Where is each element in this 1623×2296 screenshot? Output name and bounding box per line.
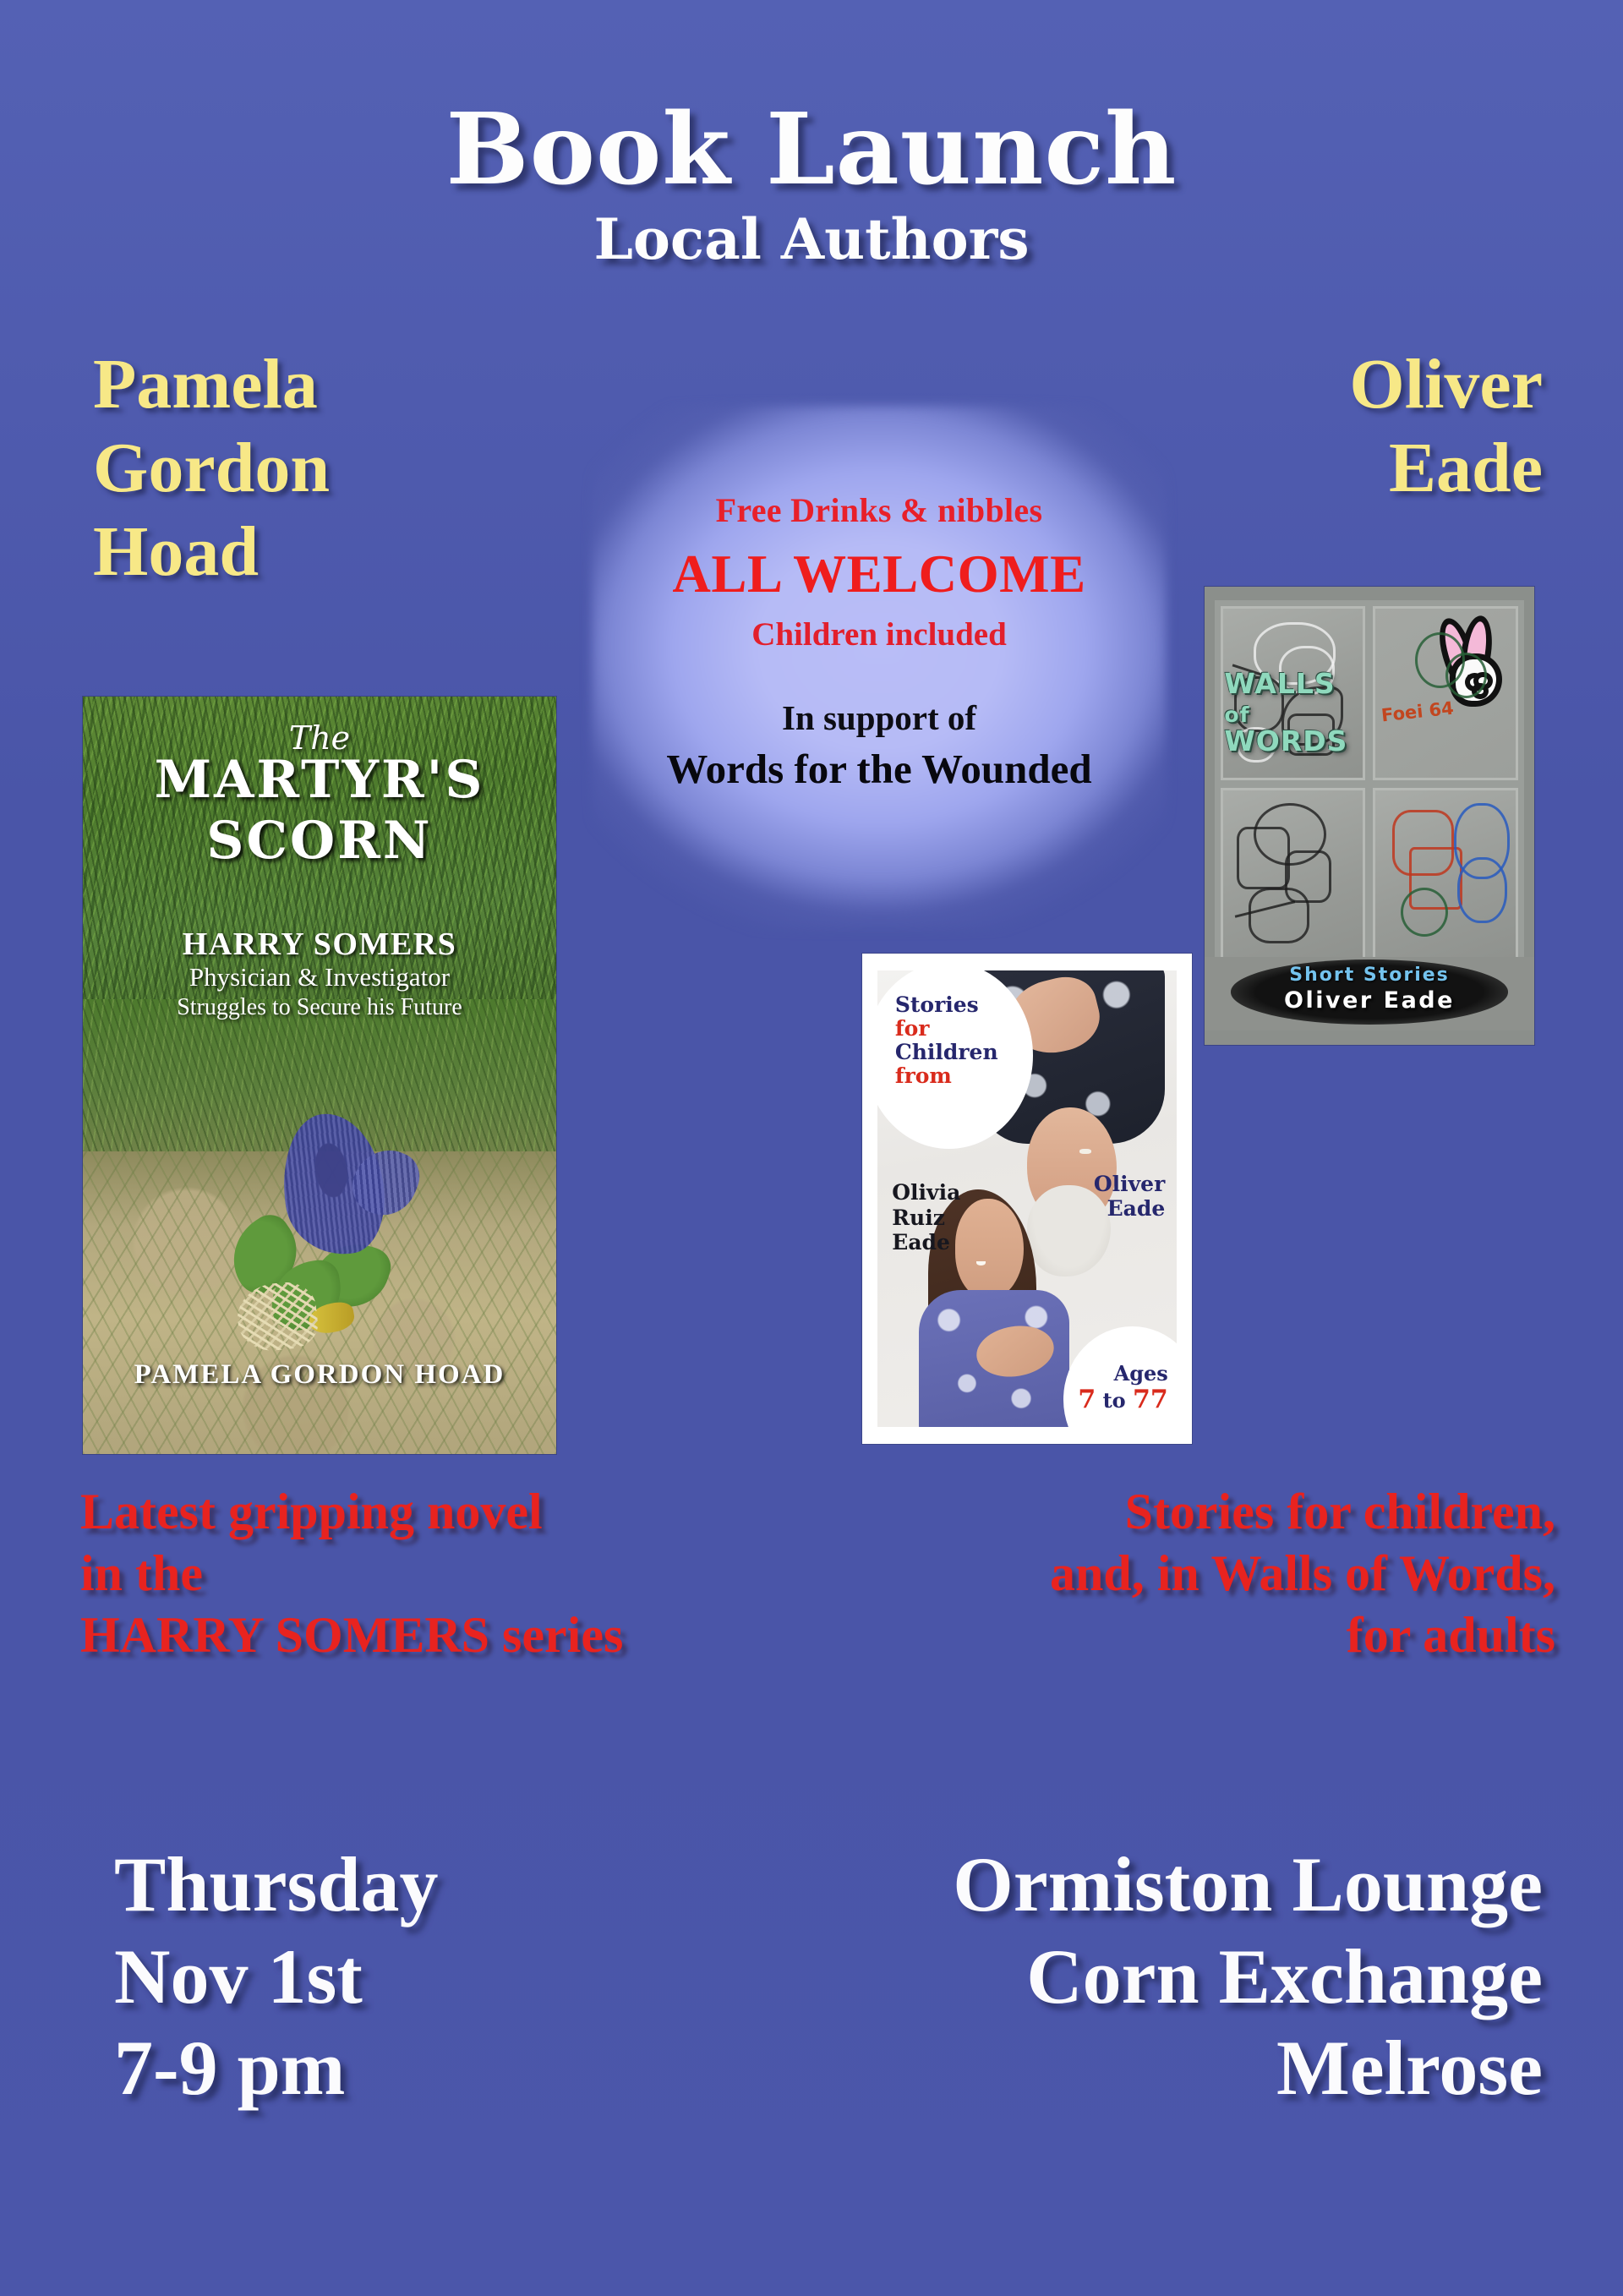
book-cover-walls-of-words: Foei 64 WALLS of WORDS S [1205, 587, 1534, 1045]
event-time: 7-9 pm [114, 2022, 672, 2114]
tagline-right-line-1: Stories for children, [845, 1481, 1555, 1543]
tagline-left: Latest gripping novel in the HARRY SOMER… [80, 1481, 773, 1667]
graffiti-panel-bottom-right [1373, 788, 1518, 961]
cover-martyrs-role: Physician & Investigator [83, 962, 556, 992]
page-title: Book Launch [0, 100, 1623, 200]
event-datetime-block: Thursday Nov 1st 7-9 pm [114, 1839, 672, 2114]
cover-martyrs-title: MARTYR'SSCORN [83, 750, 556, 872]
in-support-of-label: In support of [592, 697, 1167, 738]
author-name-right: OliverEade [1154, 342, 1543, 510]
graffiti-panel-grid: Foei 64 [1215, 600, 1525, 967]
all-welcome-text: ALL WELCOME [592, 544, 1167, 605]
cover-walls-title: WALLS of WORDS [1224, 670, 1396, 757]
charity-name: Words for the Wounded [592, 745, 1167, 793]
cover-martyrs-byline: PAMELA GORDON HOAD [83, 1359, 556, 1391]
book-cover-martyrs-scorn: The MARTYR'SSCORN HARRY SOMERS Physician… [83, 697, 556, 1454]
tagline-left-line-3: HARRY SOMERS series [80, 1604, 773, 1666]
cover-children-photo: Stories for Children from OliviaRuizEade… [877, 970, 1178, 1426]
cover-walls-author: Oliver Eade [1205, 987, 1534, 1014]
venue-building: Corn Exchange [697, 1931, 1543, 2023]
tagline-right-line-3: for adults [845, 1604, 1555, 1666]
book-cover-stories-for-children: Stories for Children from OliviaRuizEade… [862, 954, 1192, 1444]
cover-martyrs-tagline: Struggles to Secure his Future [83, 994, 556, 1021]
cover-martyrs-character: HARRY SOMERS [83, 926, 556, 963]
flower-bouquet-illustration [225, 1113, 433, 1371]
venue-room: Ormiston Lounge [697, 1839, 1543, 1931]
children-included-text: Children included [592, 615, 1167, 653]
tagline-right: Stories for children, and, in Walls of W… [845, 1481, 1555, 1667]
graffiti-panel-bottom-left [1221, 788, 1366, 961]
girl-face [955, 1199, 1025, 1299]
poster-canvas: Book Launch Local Authors PamelaGordonHo… [0, 0, 1623, 2296]
cover-walls-footer: Short Stories Oliver Eade [1205, 957, 1534, 1030]
event-notice-block: Free Drinks & nibbles ALL WELCOME Childr… [592, 490, 1167, 793]
event-day: Thursday [114, 1839, 672, 1931]
tagline-right-line-2: and, in Walls of Words, [845, 1543, 1555, 1604]
tagline-left-line-1: Latest gripping novel [80, 1481, 773, 1543]
header-block: Book Launch Local Authors [0, 100, 1623, 267]
cover-children-ages-text: Ages 7 to 77 [1054, 1363, 1168, 1413]
cover-walls-kind: Short Stories [1205, 965, 1534, 986]
event-venue-block: Ormiston Lounge Corn Exchange Melrose [697, 1839, 1543, 2114]
free-drinks-text: Free Drinks & nibbles [592, 490, 1167, 530]
cover-children-author-right: OliverEade [1094, 1172, 1165, 1222]
author-name-left: PamelaGordonHoad [93, 342, 533, 593]
event-date: Nov 1st [114, 1931, 672, 2023]
page-subtitle: Local Authors [0, 211, 1623, 267]
cover-children-title-text: Stories for Children from [895, 993, 1027, 1088]
venue-town: Melrose [697, 2022, 1543, 2114]
tagline-left-line-2: in the [80, 1543, 773, 1604]
cover-children-author-left: OliviaRuizEade [892, 1180, 960, 1255]
